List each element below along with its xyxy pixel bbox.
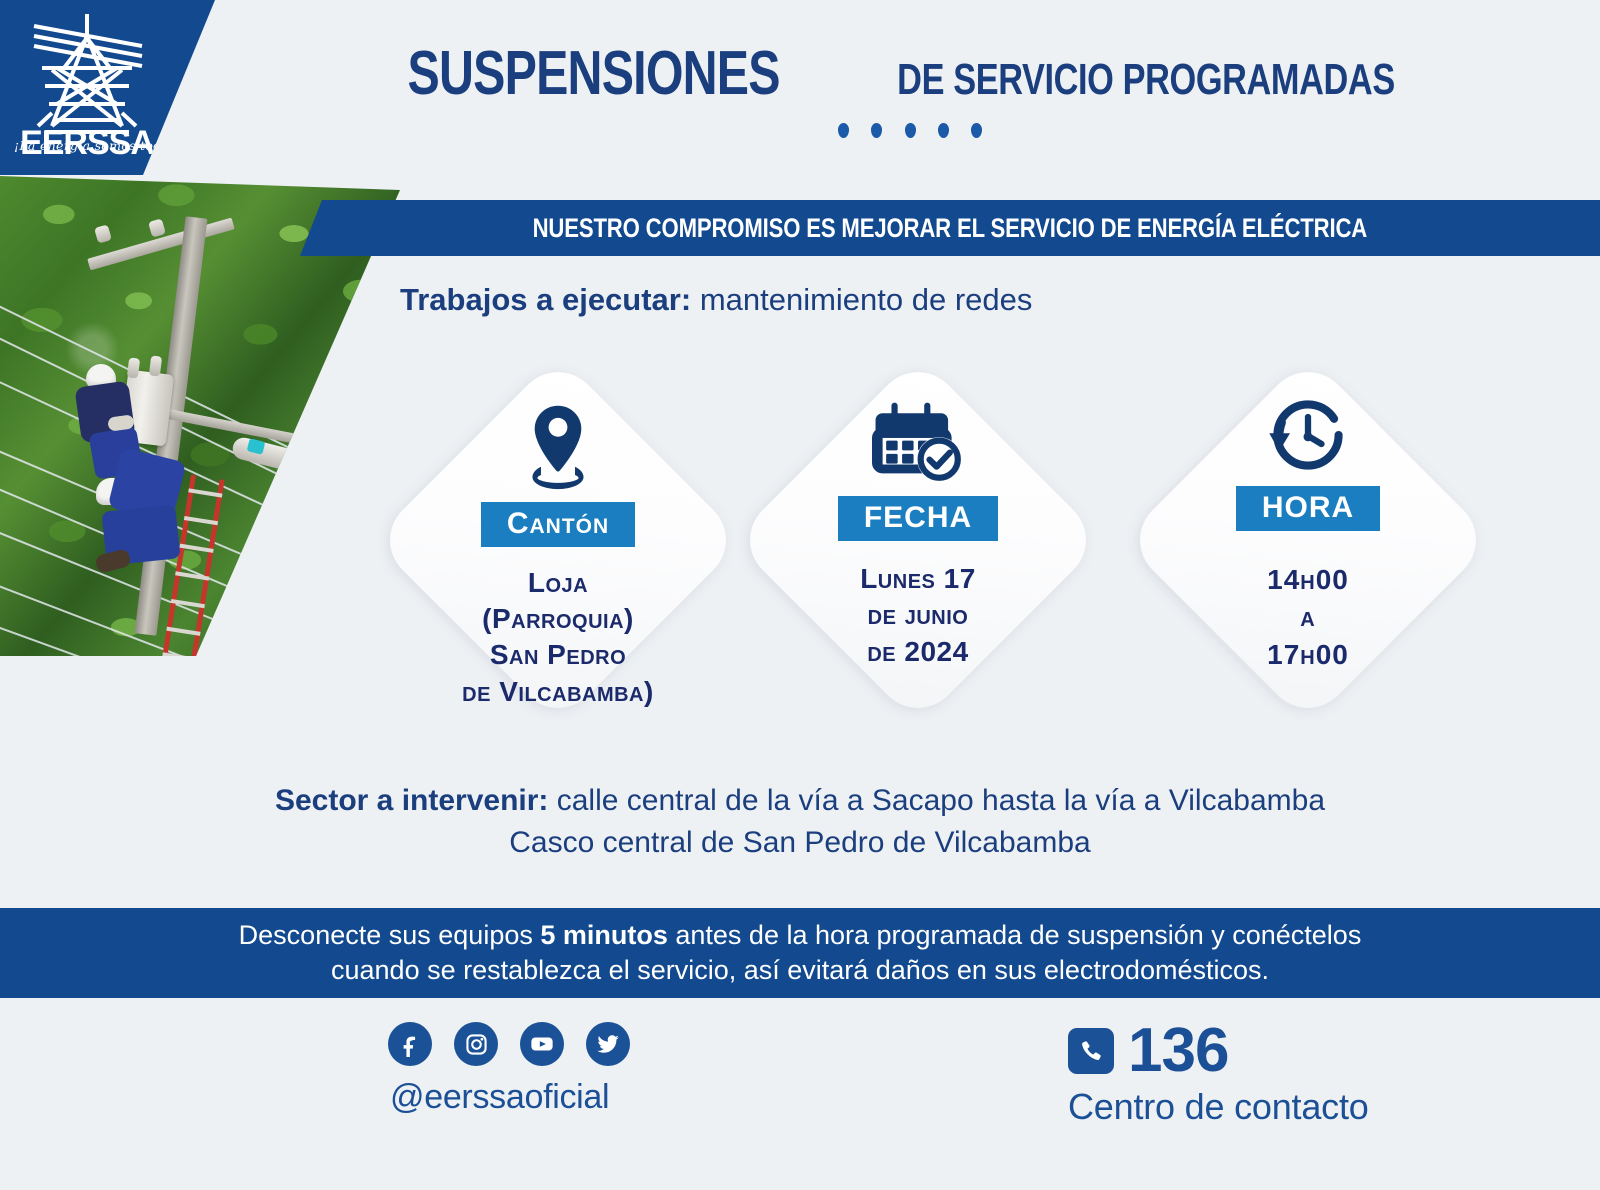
poster-title: SUSPENSIONESDE SERVICIO PROGRAMADAS bbox=[240, 38, 1580, 143]
phone-number: 136 bbox=[1128, 1020, 1228, 1082]
works-label: Trabajos a ejecutar: bbox=[400, 282, 691, 317]
card-value-canton: Loja(Parroquia)San Pedrode Vilcabamba) bbox=[462, 565, 654, 711]
clock-history-icon bbox=[1261, 394, 1355, 476]
contact-row: 136 bbox=[1068, 1020, 1369, 1082]
separator-dot bbox=[838, 123, 849, 138]
card-value-hora: 14h00a17h00 bbox=[1267, 561, 1349, 674]
warning-banner: Desconecte sus equipos 5 minutos antes d… bbox=[0, 908, 1600, 998]
sector-line-1: Sector a intervenir: calle central de la… bbox=[0, 780, 1600, 822]
separator-dot bbox=[938, 123, 949, 138]
card-value-line: Lunes 17 bbox=[860, 561, 976, 598]
card-hora: HORA 14h00a17h00 bbox=[1128, 360, 1488, 720]
title-sub: DE SERVICIO PROGRAMADAS bbox=[897, 55, 1395, 105]
card-canton: Cantón Loja(Parroquia)San Pedrode Vilcab… bbox=[378, 360, 738, 720]
commitment-banner: NUESTRO COMPROMISO ES MEJORAR EL SERVICI… bbox=[300, 200, 1600, 256]
info-cards: Cantón Loja(Parroquia)San Pedrode Vilcab… bbox=[378, 360, 1558, 760]
warning-highlight: 5 minutos bbox=[540, 920, 668, 950]
footer: @eerssaoficial 136 Centro de contacto bbox=[0, 998, 1600, 1190]
title-separator-dots bbox=[240, 123, 1580, 143]
card-label-fecha: FECHA bbox=[838, 496, 998, 541]
sector-value-1: calle central de la vía a Sacapo hasta l… bbox=[557, 784, 1325, 817]
card-value-line: Loja bbox=[462, 565, 654, 601]
sector-line-2: Casco central de San Pedro de Vilcabamba bbox=[0, 822, 1600, 864]
instagram-icon[interactable] bbox=[454, 1022, 498, 1066]
card-fecha: FECHA Lunes 17de juniode 2024 bbox=[738, 360, 1098, 720]
card-value-line: San Pedro bbox=[462, 637, 654, 673]
card-label-hora: HORA bbox=[1236, 486, 1380, 531]
card-value-line: 17h00 bbox=[1267, 636, 1349, 674]
brand-logo-block: EERSSA ¡La energía somos todos! bbox=[0, 0, 215, 175]
card-value-line: de Vilcabamba) bbox=[462, 674, 654, 710]
card-value-line: 14h00 bbox=[1267, 561, 1349, 599]
warning-text-a: Desconecte sus equipos bbox=[239, 920, 541, 950]
works-line: Trabajos a ejecutar: mantenimiento de re… bbox=[400, 282, 1032, 318]
youtube-icon[interactable] bbox=[520, 1022, 564, 1066]
separator-dot bbox=[971, 123, 982, 138]
location-pin-icon bbox=[515, 406, 601, 488]
works-value: mantenimiento de redes bbox=[700, 282, 1033, 317]
poster-canvas: EERSSA ¡La energía somos todos! SUSPENSI… bbox=[0, 0, 1600, 1190]
contact-block: 136 Centro de contacto bbox=[1068, 1020, 1369, 1128]
commitment-text: NUESTRO COMPROMISO ES MEJORAR EL SERVICI… bbox=[533, 213, 1368, 244]
card-value-line: (Parroquia) bbox=[462, 601, 654, 637]
social-block: @eerssaoficial bbox=[388, 1022, 630, 1117]
card-label-canton: Cantón bbox=[481, 502, 635, 547]
card-value-line: a bbox=[1267, 598, 1349, 636]
separator-dot bbox=[871, 123, 882, 138]
sector-block: Sector a intervenir: calle central de la… bbox=[0, 780, 1600, 864]
card-value-fecha: Lunes 17de juniode 2024 bbox=[860, 561, 976, 672]
card-value-line: de 2024 bbox=[860, 634, 976, 671]
card-value-line: de junio bbox=[860, 597, 976, 634]
social-icons-row bbox=[388, 1022, 630, 1066]
calendar-check-icon bbox=[872, 400, 964, 482]
warning-line-2: cuando se restablezca el servicio, así e… bbox=[331, 953, 1269, 988]
brand-tagline: ¡La energía somos todos! bbox=[14, 138, 159, 153]
twitter-icon[interactable] bbox=[586, 1022, 630, 1066]
facebook-icon[interactable] bbox=[388, 1022, 432, 1066]
title-main: SUSPENSIONES bbox=[408, 38, 780, 109]
phone-caption: Centro de contacto bbox=[1068, 1086, 1369, 1128]
warning-line-1: Desconecte sus equipos 5 minutos antes d… bbox=[239, 918, 1362, 953]
social-handle[interactable]: @eerssaoficial bbox=[390, 1078, 630, 1117]
phone-icon bbox=[1068, 1028, 1114, 1074]
sector-label: Sector a intervenir: bbox=[275, 784, 548, 817]
warning-text-c: antes de la hora programada de suspensió… bbox=[668, 920, 1361, 950]
separator-dot bbox=[905, 123, 916, 138]
